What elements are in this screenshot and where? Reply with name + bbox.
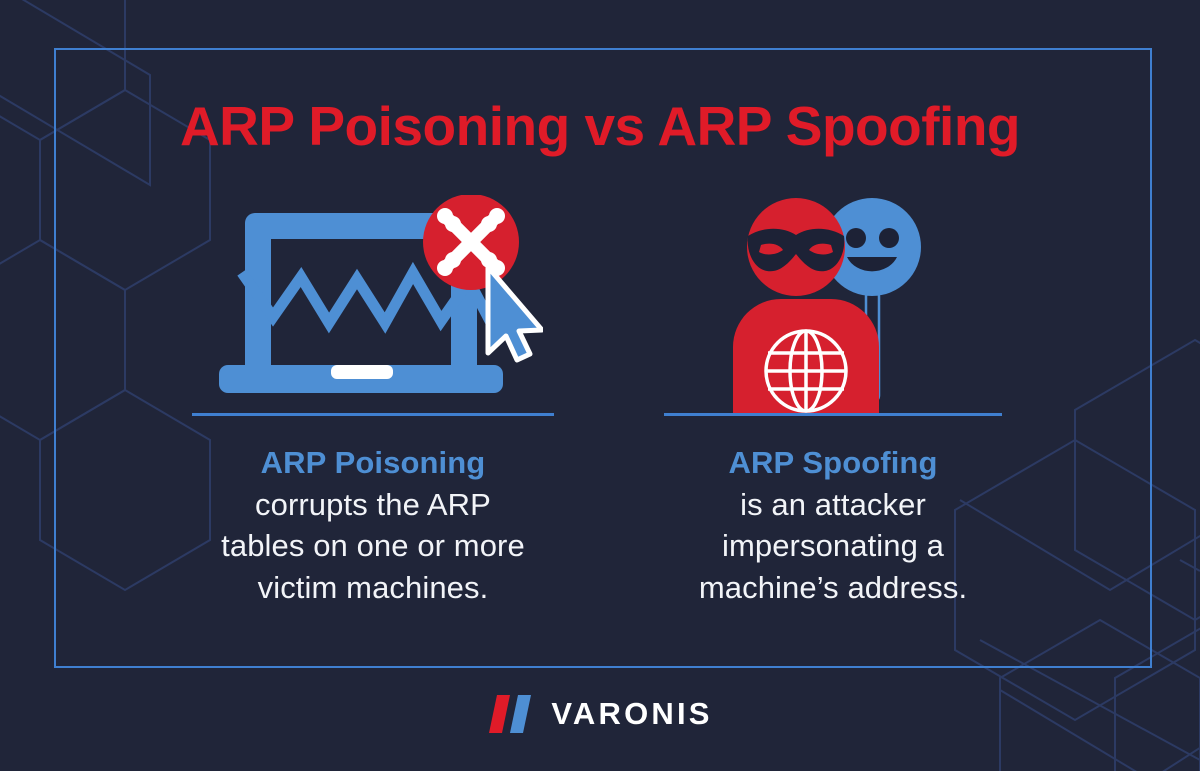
term-arp-poisoning: ARP Poisoning	[221, 442, 525, 484]
infographic-canvas: ARP Poisoning vs ARP Spoofing	[0, 0, 1200, 771]
cursor-arrow-icon	[488, 267, 542, 360]
term-arp-spoofing: ARP Spoofing	[699, 442, 967, 484]
varonis-double-slash-logo-icon	[487, 695, 539, 733]
masked-attacker-head-icon	[747, 198, 845, 296]
panel-arp-spoofing: ARP Spoofing is an attacker impersonatin…	[623, 195, 1043, 608]
description-line-1: corrupts the ARP	[221, 484, 525, 526]
panel-divider-left	[192, 413, 554, 416]
comparison-panels: ARP Poisoning corrupts the ARP tables on…	[54, 195, 1152, 608]
panel-arp-poisoning: ARP Poisoning corrupts the ARP tables on…	[163, 195, 583, 608]
description-line-1: is an attacker	[699, 484, 967, 526]
caption-arp-spoofing: ARP Spoofing is an attacker impersonatin…	[699, 442, 967, 608]
page-title: ARP Poisoning vs ARP Spoofing	[0, 96, 1200, 157]
globe-icon	[766, 331, 846, 411]
description-line-3: victim machines.	[221, 567, 525, 609]
description-line-3: machine’s address.	[699, 567, 967, 609]
varonis-wordmark: VARONIS	[551, 696, 712, 732]
description-line-2: tables on one or more	[221, 525, 525, 567]
illustration-masked-attacker	[623, 195, 1043, 413]
varonis-logo: VARONIS	[0, 695, 1200, 733]
description-line-2: impersonating a	[699, 525, 967, 567]
caption-arp-poisoning: ARP Poisoning corrupts the ARP tables on…	[221, 442, 525, 608]
illustration-laptop-with-crossbones	[163, 195, 583, 413]
panel-divider-right	[664, 413, 1002, 416]
crossbones-badge-icon	[423, 195, 519, 290]
